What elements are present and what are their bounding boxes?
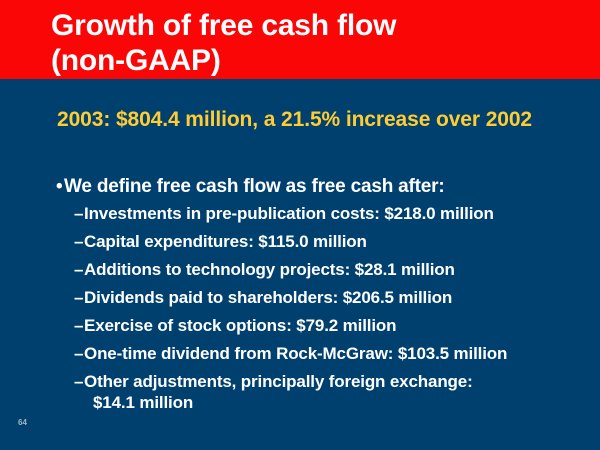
- bullet-marker-dot: •: [56, 175, 64, 199]
- bullet-marker-dash: –: [74, 315, 84, 336]
- bullet-label: Additions to technology projects: $28.1 …: [84, 259, 594, 280]
- slide-number: 64: [18, 418, 27, 428]
- page-title-line-1: Growth of free cash flow: [51, 8, 591, 43]
- bullet-item-define: • We define free cash flow as free cash …: [56, 175, 594, 199]
- bullet-label: Other adjustments, principally foreign e…: [84, 371, 594, 413]
- bullet-item-other-adjustments: – Other adjustments, principally foreign…: [74, 371, 594, 413]
- bullet-item-stock-options: – Exercise of stock options: $79.2 milli…: [74, 315, 594, 336]
- bullet-list: • We define free cash flow as free cash …: [56, 175, 594, 420]
- bullet-item-rock-mcgraw-dividend: – One-time dividend from Rock-McGraw: $1…: [74, 343, 594, 364]
- bullet-label: One-time dividend from Rock-McGraw: $103…: [84, 343, 594, 364]
- bullet-marker-dash: –: [74, 231, 84, 252]
- bullet-label-line-1: Other adjustments, principally foreign e…: [84, 372, 473, 391]
- page-title-line-2: (non-GAAP): [51, 43, 591, 78]
- bullet-label: We define free cash flow as free cash af…: [64, 175, 594, 199]
- bullet-item-capital-expenditures: – Capital expenditures: $115.0 million: [74, 231, 594, 252]
- bullet-item-technology-projects: – Additions to technology projects: $28.…: [74, 259, 594, 280]
- bullet-label: Dividends paid to shareholders: $206.5 m…: [84, 287, 594, 308]
- page-title: Growth of free cash flow (non-GAAP): [51, 8, 591, 78]
- bullet-marker-dash: –: [74, 287, 84, 308]
- bullet-label-line-2: $14.1 million: [84, 392, 594, 413]
- bullet-label: Exercise of stock options: $79.2 million: [84, 315, 594, 336]
- bullet-marker-dash: –: [74, 203, 84, 224]
- bullet-marker-dash: –: [74, 259, 84, 280]
- headline-text: 2003: $804.4 million, a 21.5% increase o…: [57, 107, 567, 132]
- slide-body: 2003: $804.4 million, a 21.5% increase o…: [0, 79, 600, 450]
- bullet-label: Capital expenditures: $115.0 million: [84, 231, 594, 252]
- slide: Growth of free cash flow (non-GAAP) 2003…: [0, 0, 600, 450]
- bullet-item-dividends-shareholders: – Dividends paid to shareholders: $206.5…: [74, 287, 594, 308]
- bullet-marker-dash: –: [74, 343, 84, 364]
- bullet-item-prepublication: – Investments in pre-publication costs: …: [74, 203, 594, 224]
- bullet-label: Investments in pre-publication costs: $2…: [84, 203, 594, 224]
- bullet-marker-dash: –: [74, 371, 84, 392]
